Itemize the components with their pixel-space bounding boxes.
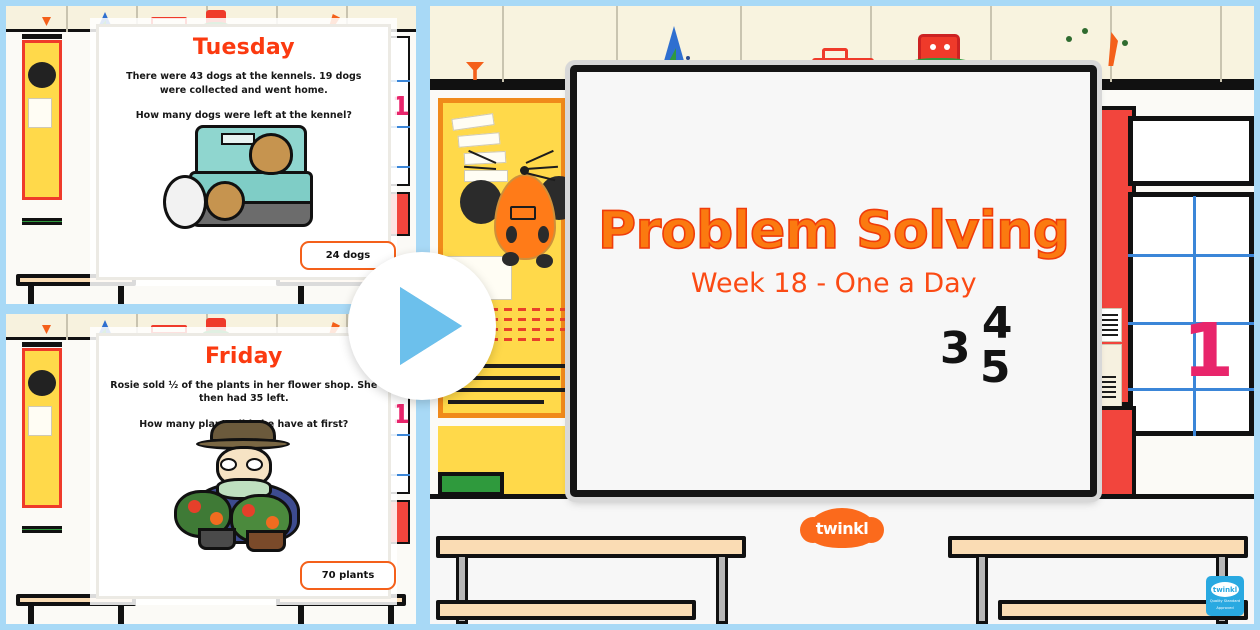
desk-leg — [388, 604, 394, 624]
shelf-item-dot — [1122, 40, 1128, 46]
quality-standard-approved-badge: twinkl Quality Standard Approved — [1206, 576, 1244, 616]
desk-leg — [298, 284, 304, 304]
slide-title: Friday — [99, 344, 388, 369]
shelf-divider — [66, 6, 68, 32]
whiteboard: Problem Solving Week 18 - One a Day 3 4 … — [570, 65, 1097, 498]
slide-question-line1: Rosie sold ½ of the plants in her flower… — [99, 369, 388, 407]
glasses-left — [220, 458, 237, 471]
note-card — [28, 98, 52, 128]
desk-leg — [976, 554, 988, 624]
desk-leg — [118, 284, 124, 304]
badge-line2: Approved — [1216, 606, 1233, 610]
flower — [210, 512, 223, 525]
grid-number: 1 — [392, 400, 410, 430]
play-triangle-icon — [400, 287, 462, 365]
shelf-divider — [66, 314, 68, 340]
flower — [188, 500, 201, 513]
answer-box: 70 plants — [300, 561, 396, 590]
desk-leg — [716, 554, 728, 624]
flower — [266, 516, 279, 529]
classroom-desk — [436, 536, 746, 558]
plant-pot — [198, 528, 236, 550]
presentation-subtitle: Week 18 - One a Day — [577, 268, 1090, 299]
main-slide-preview[interactable]: 1 Problem Solving Week 18 - One a Day 3 … — [430, 6, 1254, 624]
white-board — [1128, 116, 1254, 186]
screenshot-root: 1 Tuesday There were 43 dogs at the kenn… — [0, 0, 1260, 630]
slide-content-card: Friday Rosie sold ½ of the plants in her… — [96, 333, 391, 600]
dog-head — [249, 133, 293, 175]
desk-leg — [118, 604, 124, 624]
dog-head — [205, 181, 245, 221]
dog-carrier-image — [149, 119, 339, 239]
mascot-whisker — [464, 166, 496, 170]
slide-title: Tuesday — [99, 35, 388, 60]
florist-image — [154, 420, 334, 560]
carrier-vent — [221, 133, 255, 145]
grid-line — [1128, 254, 1254, 257]
shelf-item-dot — [930, 44, 936, 50]
mascot-glasses — [510, 206, 536, 220]
grid-number: 1 — [392, 92, 410, 122]
shelf-item-dot — [944, 44, 950, 50]
whiteboard-scribble-5: 5 — [980, 342, 1011, 393]
badge-brand: twinkl — [1211, 582, 1239, 597]
mascot-whisker — [526, 166, 558, 170]
shelf-item-icon — [822, 48, 848, 62]
shelf-edge — [22, 342, 62, 347]
slide-thumbnail-tuesday[interactable]: 1 Tuesday There were 43 dogs at the kenn… — [6, 6, 416, 304]
mascot-foot — [502, 252, 519, 266]
slide-thumbnail-friday[interactable]: 1 Friday Rosie sold ½ of the plants in h… — [6, 314, 416, 624]
flower — [242, 504, 255, 517]
classroom-desk-shelf — [436, 600, 696, 620]
badge-line1: Quality Standard — [1210, 599, 1240, 603]
shelf-edge — [22, 218, 62, 225]
grid-number: 1 — [1183, 322, 1235, 381]
plant-pot — [246, 530, 286, 552]
mascot-foot — [536, 254, 553, 268]
carrier-door — [163, 175, 207, 229]
mascot-eye — [506, 226, 517, 243]
decor-circle — [28, 62, 56, 88]
classroom-desk — [948, 536, 1248, 558]
decor-circle — [28, 370, 56, 396]
desk-leg — [28, 604, 34, 624]
shelf-item-dot — [1066, 36, 1072, 42]
twinkl-logo-text: twinkl — [816, 519, 868, 538]
mascot-eye — [538, 226, 549, 243]
play-video-button[interactable] — [348, 252, 496, 400]
desk-leg — [298, 604, 304, 624]
slide-question-line1: There were 43 dogs at the kennels. 19 do… — [99, 60, 388, 98]
note-card — [28, 406, 52, 436]
shelf-item-dot — [686, 56, 690, 60]
shelf-edge — [22, 526, 62, 533]
shelf-edge — [22, 34, 62, 39]
shelf-divider — [1220, 6, 1222, 82]
glasses-right — [246, 458, 263, 471]
shelf-item-dot — [1082, 28, 1088, 34]
green-panel — [438, 472, 504, 496]
whiteboard-scribble-3: 3 — [940, 323, 971, 374]
presentation-title: Problem Solving — [577, 201, 1090, 261]
twinkl-logo: twinkl — [807, 508, 877, 548]
shelf-divider — [502, 6, 504, 82]
desk-leg — [28, 284, 34, 304]
